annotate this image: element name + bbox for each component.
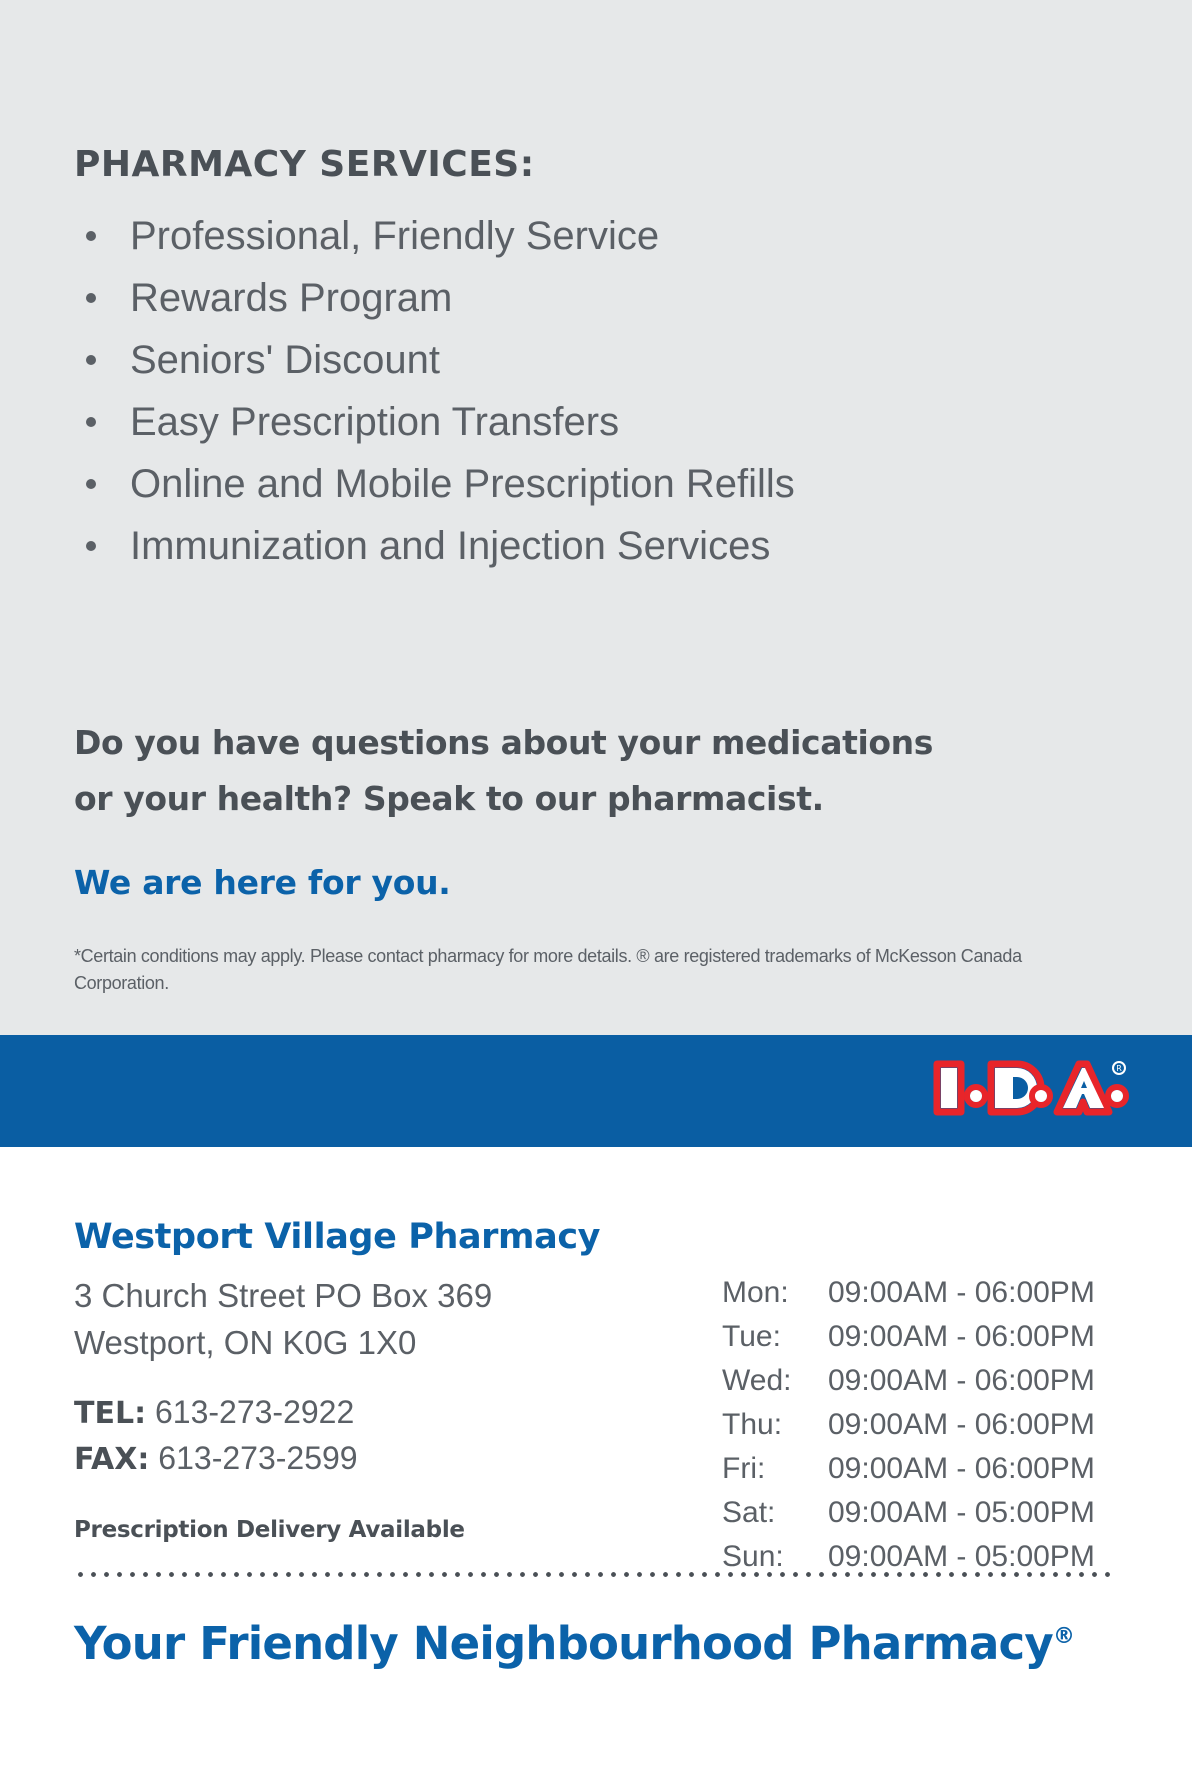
table-row: Thu: 09:00AM - 06:00PM xyxy=(722,1403,1095,1447)
hours-day: Sat: xyxy=(722,1491,822,1535)
hours-day: Thu: xyxy=(722,1403,822,1447)
telephone-row: TEL: 613-273-2922 xyxy=(74,1390,358,1436)
address-line-1: 3 Church Street PO Box 369 xyxy=(74,1272,492,1319)
bullet-icon xyxy=(86,417,96,427)
telephone-value[interactable]: 613-273-2922 xyxy=(155,1394,354,1430)
footer-tagline: Your Friendly Neighbourhood Pharmacy® xyxy=(74,1617,1074,1670)
footer-tagline-text: Your Friendly Neighbourhood Pharmacy xyxy=(74,1617,1053,1670)
list-item: Immunization and Injection Services xyxy=(74,515,795,577)
fax-row: FAX: 613-273-2599 xyxy=(74,1436,358,1482)
bullet-icon xyxy=(86,541,96,551)
hours-day: Fri: xyxy=(722,1447,822,1491)
bullet-icon xyxy=(86,231,96,241)
list-item: Professional, Friendly Service xyxy=(74,205,795,267)
list-item: Seniors' Discount xyxy=(74,329,795,391)
disclaimer-text: *Certain conditions may apply. Please co… xyxy=(74,943,1074,997)
hours-time: 09:00AM - 06:00PM xyxy=(822,1359,1095,1403)
list-item: Rewards Program xyxy=(74,267,795,329)
service-label: Seniors' Discount xyxy=(130,338,440,382)
hours-time: 09:00AM - 06:00PM xyxy=(822,1271,1095,1315)
fax-value: 613-273-2599 xyxy=(158,1440,357,1476)
questions-block: Do you have questions about your medicat… xyxy=(74,715,1034,827)
table-row: Fri: 09:00AM - 06:00PM xyxy=(722,1447,1095,1491)
list-item: Easy Prescription Transfers xyxy=(74,391,795,453)
dotted-divider xyxy=(74,1571,1118,1578)
delivery-note: Prescription Delivery Available xyxy=(74,1517,465,1543)
service-label: Easy Prescription Transfers xyxy=(130,400,619,444)
table-row: Sat: 09:00AM - 05:00PM xyxy=(722,1491,1095,1535)
brand-band: R xyxy=(0,1035,1192,1147)
table-row: Wed: 09:00AM - 06:00PM xyxy=(722,1359,1095,1403)
questions-line-1: Do you have questions about your medicat… xyxy=(74,715,1034,771)
hours-time: 09:00AM - 06:00PM xyxy=(822,1447,1095,1491)
pharmacy-flyer: PHARMACY SERVICES: Professional, Friendl… xyxy=(0,0,1192,1785)
service-label: Rewards Program xyxy=(130,276,452,320)
contact-section: Westport Village Pharmacy 3 Church Stree… xyxy=(0,1147,1192,1785)
list-item: Online and Mobile Prescription Refills xyxy=(74,453,795,515)
bullet-icon xyxy=(86,293,96,303)
table-row: Tue: 09:00AM - 06:00PM xyxy=(722,1315,1095,1359)
store-name: Westport Village Pharmacy xyxy=(74,1217,600,1257)
svg-text:R: R xyxy=(1116,1064,1122,1073)
hours-day: Tue: xyxy=(722,1315,822,1359)
service-label: Online and Mobile Prescription Refills xyxy=(130,462,795,506)
address-line-2: Westport, ON K0G 1X0 xyxy=(74,1319,492,1366)
store-hours-table: Mon: 09:00AM - 06:00PM Tue: 09:00AM - 06… xyxy=(722,1271,1095,1579)
call-to-action-text: We are here for you. xyxy=(74,863,451,902)
fax-label: FAX: xyxy=(74,1442,149,1477)
table-row: Mon: 09:00AM - 06:00PM xyxy=(722,1271,1095,1315)
bullet-icon xyxy=(86,355,96,365)
services-list: Professional, Friendly Service Rewards P… xyxy=(74,205,795,577)
telephone-label: TEL: xyxy=(74,1396,146,1431)
bullet-icon xyxy=(86,479,96,489)
registered-trademark-icon: ® xyxy=(1053,1624,1074,1649)
store-address: 3 Church Street PO Box 369 Westport, ON … xyxy=(74,1272,492,1366)
hours-time: 09:00AM - 06:00PM xyxy=(822,1403,1095,1447)
pharmacy-services-panel: PHARMACY SERVICES: Professional, Friendl… xyxy=(0,0,1192,1035)
hours-time: 09:00AM - 06:00PM xyxy=(822,1315,1095,1359)
store-phone-numbers: TEL: 613-273-2922 FAX: 613-273-2599 xyxy=(74,1390,358,1482)
service-label: Professional, Friendly Service xyxy=(130,214,659,258)
hours-day: Wed: xyxy=(722,1359,822,1403)
questions-line-2: or your health? Speak to our pharmacist. xyxy=(74,771,1034,827)
ida-logo: R xyxy=(929,1052,1129,1124)
service-label: Immunization and Injection Services xyxy=(130,524,770,568)
page-title: PHARMACY SERVICES: xyxy=(74,144,535,185)
hours-time: 09:00AM - 05:00PM xyxy=(822,1491,1095,1535)
hours-day: Mon: xyxy=(722,1271,822,1315)
